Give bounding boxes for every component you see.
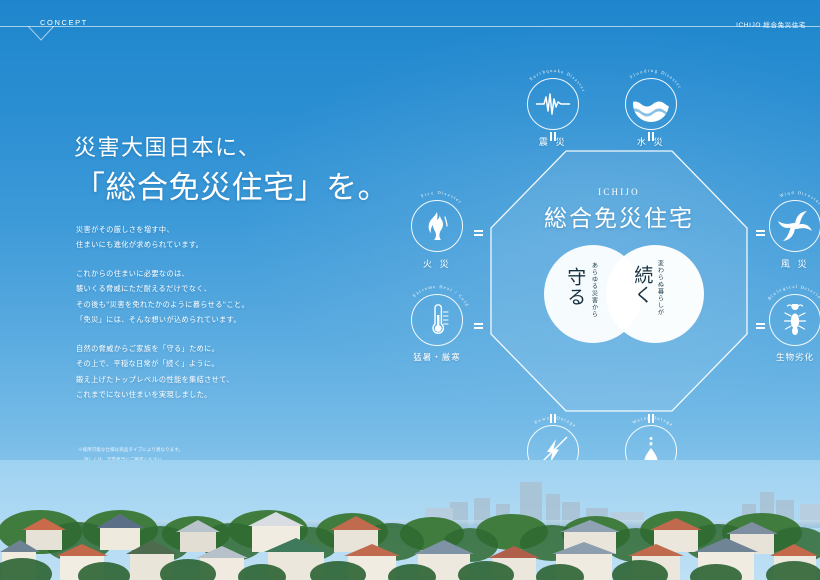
brand-en-label: ICHIJO (490, 187, 748, 197)
venn-left-keyword: 守る (564, 267, 585, 307)
venn-circle-tsuzuku (606, 245, 704, 343)
headline-line-2: 「総合免災住宅」を。 (74, 168, 404, 208)
flame-icon (424, 211, 450, 241)
node-fire[interactable]: Fire Disaster 火 災 (398, 200, 476, 270)
node-heatcold[interactable]: Extreme Heat / Cold 猛暑・厳寒 (398, 294, 476, 363)
earthquake-ring: Earthquake Disaster (527, 78, 579, 130)
paragraph-3: 自然の脅威からご家族を「守る」ために。 その上で、平穏な日常が「続く」ように。 … (76, 341, 376, 403)
node-biological[interactable]: Biological Deterioration 生物劣化 (756, 294, 820, 363)
paragraph-1-line-1: 災害がその厳しさを増す中、 (76, 222, 376, 237)
node-wind[interactable]: Wind Disaster 風 災 (756, 200, 820, 270)
octagon-center-content: ICHIJO 総合免災住宅 守る あらゆる災害から 続く 変わらぬ暮らしが (490, 150, 748, 412)
paragraph-3-line-3: 鍛え上げたトップレベルの性能を集結させて、 (76, 372, 376, 387)
cityscape-illustration (0, 460, 820, 580)
fire-label: 火 災 (398, 257, 476, 270)
flood-label: 水 災 (612, 135, 690, 148)
node-earthquake[interactable]: Earthquake Disaster 震 災 (514, 78, 592, 148)
paragraph-3-line-2: その上で、平穏な日常が「続く」ように。 (76, 356, 376, 371)
heatcold-label: 猛暑・厳寒 (398, 351, 476, 363)
typhoon-swirl-icon (777, 208, 813, 244)
wind-label: 風 災 (756, 257, 820, 270)
paragraph-1: 災害がその厳しさを増す中、 住まいにも進化が求められています。 (76, 222, 376, 253)
node-flood[interactable]: Flooding Disaster 水 災 (612, 78, 690, 148)
headline-line-1: 災害大国日本に、 (74, 134, 404, 164)
headline-block: 災害大国日本に、 「総合免災住宅」を。 (74, 134, 404, 208)
paragraph-3-line-4: これまでにない住まいを実現しました。 (76, 387, 376, 402)
disaster-octagon-diagram: ICHIJO 総合免災住宅 守る あらゆる災害から 続く 変わらぬ暮らしが (420, 70, 820, 490)
header-notch-icon (28, 26, 54, 41)
water-wave-icon (631, 84, 671, 124)
biological-ring: Biological Deterioration (769, 294, 820, 346)
paragraph-3-line-1: 自然の脅威からご家族を「守る」ために。 (76, 341, 376, 356)
thermometer-icon (422, 304, 452, 336)
paragraph-2: これからの住まいに必要なのは、 襲いくる脅威にただ耐えるだけでなく、 その後も"… (76, 266, 376, 328)
concept-label: CONCEPT (40, 18, 88, 27)
venn-left-caption: あらゆる災害から (590, 262, 597, 318)
venn-right-keyword: 続く (631, 265, 652, 305)
page-header: CONCEPT ICHIJO 総合免災住宅 (0, 0, 820, 40)
paragraph-2-line-4: 「免災」には、そんな想いが込められています。 (76, 312, 376, 327)
termite-insect-icon (780, 304, 810, 336)
flood-ring: Flooding Disaster (625, 78, 677, 130)
paragraph-2-line-3: その後も"災害を免れたかのように暮らせる"こと。 (76, 297, 376, 312)
wind-ring: Wind Disaster (769, 200, 820, 252)
header-divider (0, 26, 820, 27)
footnote-line-1: ※採用可能な仕様は商品タイプにより異なります。 (78, 446, 308, 456)
body-copy-block: 災害がその厳しさを増す中、 住まいにも進化が求められています。 これからの住まい… (76, 222, 376, 416)
paragraph-2-line-1: これからの住まいに必要なのは、 (76, 266, 376, 281)
concept-page: CONCEPT ICHIJO 総合免災住宅 災害大国日本に、 「総合免災住宅」を… (0, 0, 820, 580)
cityscape-photo (0, 460, 820, 580)
venn-right-caption: 変わらぬ暮らしが (656, 260, 663, 316)
earthquake-wave-icon (536, 93, 570, 115)
biological-label: 生物劣化 (756, 351, 820, 363)
paragraph-2-line-2: 襲いくる脅威にただ耐えるだけでなく、 (76, 281, 376, 296)
fire-ring: Fire Disaster (411, 200, 463, 252)
earthquake-label: 震 災 (514, 135, 592, 148)
paragraph-1-line-2: 住まいにも進化が求められています。 (76, 237, 376, 252)
brand-label: ICHIJO 総合免災住宅 (736, 19, 806, 29)
heatcold-ring: Extreme Heat / Cold (411, 294, 463, 346)
brand-jp-label: 総合免災住宅 (490, 199, 748, 233)
